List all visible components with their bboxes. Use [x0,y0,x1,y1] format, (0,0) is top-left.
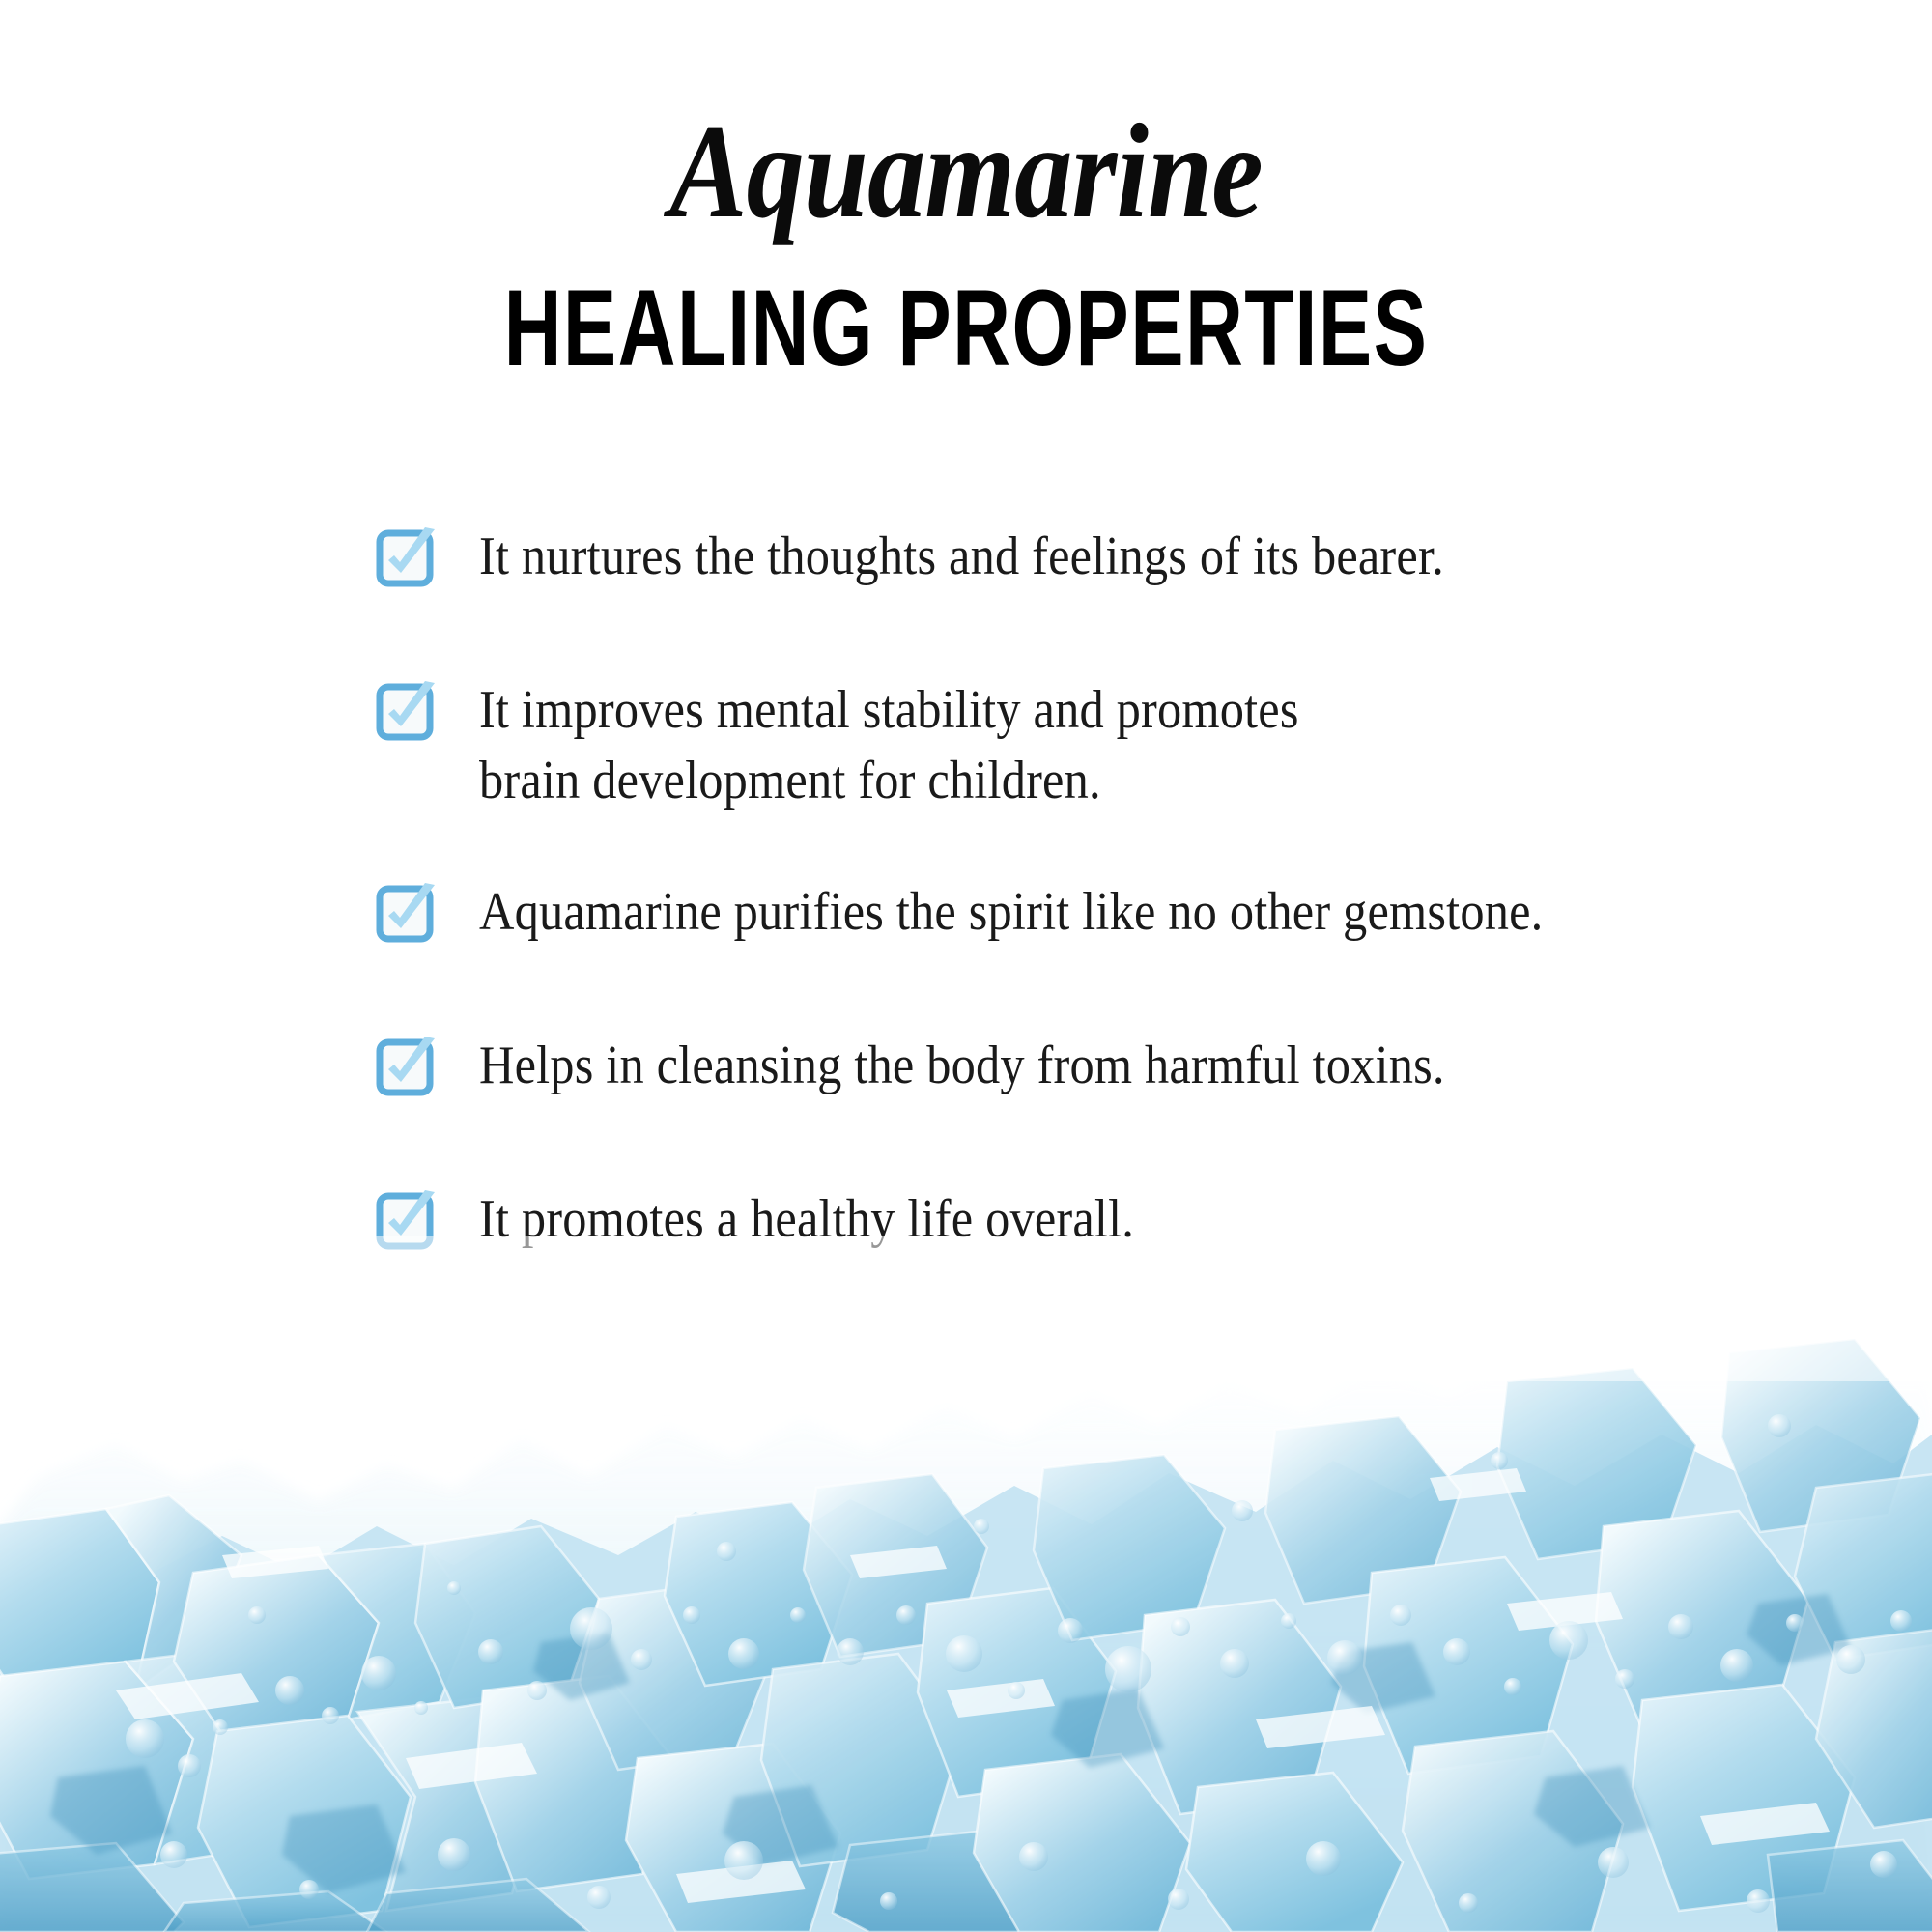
header: Aquamarine HEALING PROPERTIES [0,0,1932,383]
list-item: Helps in cleansing the body from harmful… [377,1031,1826,1101]
ice-cubes-illustration [0,1236,1932,1932]
checked-checkbox-icon [377,527,439,589]
checked-checkbox-icon [377,883,439,945]
poster-canvas: Aquamarine HEALING PROPERTIES It nurture… [0,0,1932,1932]
checked-checkbox-icon [377,1190,439,1252]
checked-checkbox-icon [377,1037,439,1098]
page-title: Aquamarine [135,104,1797,240]
ice-cubes-photo [0,1236,1932,1932]
healing-properties-list: It nurtures the thoughts and feelings of… [377,522,1826,1338]
list-item-label: It nurtures the thoughts and feelings of… [479,522,1444,592]
page-subtitle: HEALING PROPERTIES [251,274,1681,383]
list-item: It nurtures the thoughts and feelings of… [377,522,1826,592]
list-item: It promotes a healthy life overall. [377,1184,1826,1255]
checked-checkbox-icon [377,681,439,743]
list-item: It improves mental stability and promote… [377,675,1826,816]
list-item-label: It improves mental stability and promote… [479,675,1299,816]
list-item-label: Helps in cleansing the body from harmful… [479,1031,1445,1101]
list-item: Aquamarine purifies the spirit like no o… [377,877,1826,948]
list-item-label: It promotes a healthy life overall. [479,1184,1134,1255]
list-item-label: Aquamarine purifies the spirit like no o… [479,877,1543,948]
